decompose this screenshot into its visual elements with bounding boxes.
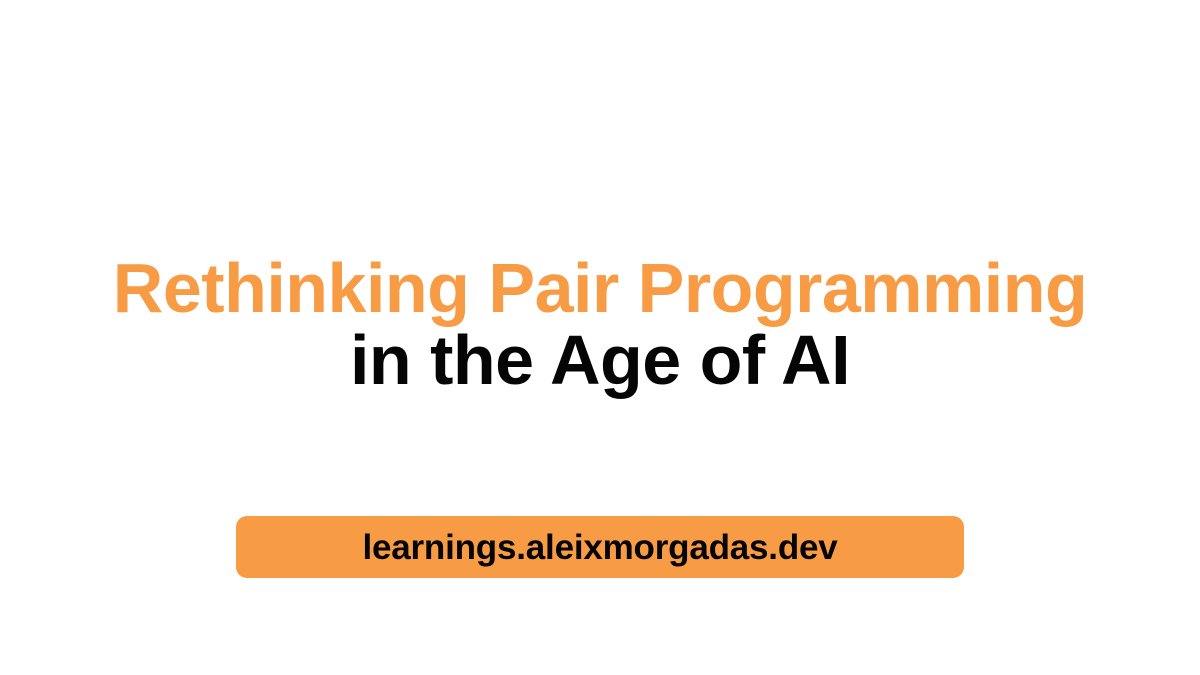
site-url-label: learnings.aleixmorgadas.dev [362,530,837,565]
site-url-badge[interactable]: learnings.aleixmorgadas.dev [236,516,964,578]
title-slide: Rethinking Pair Programming in the Age o… [0,0,1200,675]
badge-container: learnings.aleixmorgadas.dev [0,516,1200,578]
title-line-secondary: in the Age of AI [0,324,1200,396]
title-line-primary: Rethinking Pair Programming [0,252,1200,324]
page-title: Rethinking Pair Programming in the Age o… [0,252,1200,396]
